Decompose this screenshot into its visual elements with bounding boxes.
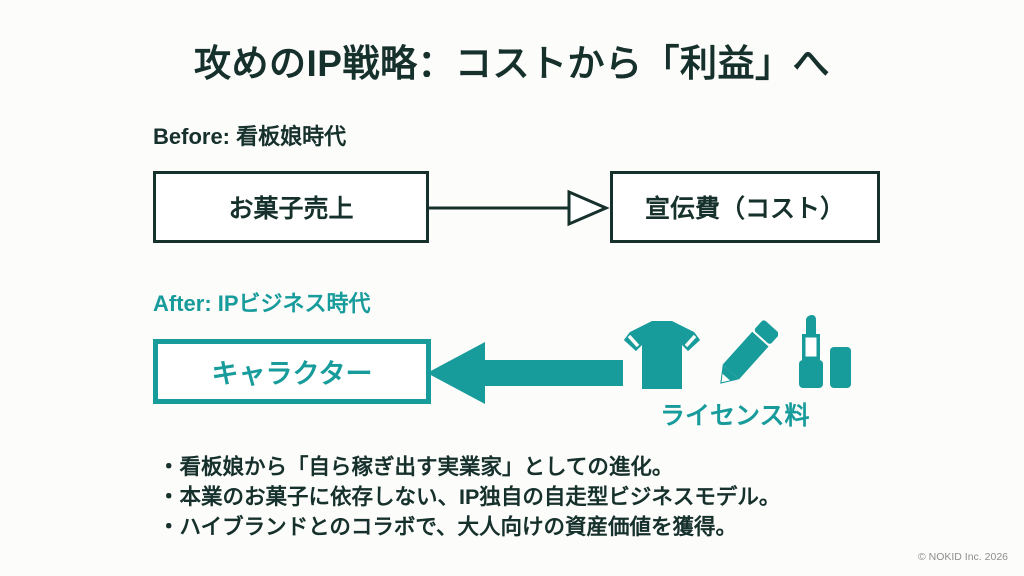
pencil-icon bbox=[716, 316, 778, 392]
section-label-after: After: IPビジネス時代 bbox=[153, 286, 371, 318]
bullet-list: ・看板娘から「自ら稼ぎ出す実業家」としての進化。 ・本業のお菓子に依存しない、I… bbox=[158, 452, 918, 542]
list-item: ・ハイブランドとのコラボで、大人向けの資産価値を獲得。 bbox=[158, 512, 918, 542]
flow-box-label: キャラクター bbox=[212, 352, 373, 391]
lipstick-icon bbox=[792, 314, 856, 392]
section-label-before: Before: 看板娘時代 bbox=[153, 119, 346, 151]
flow-box-label: お菓子売上 bbox=[228, 189, 353, 225]
flow-box-sendenhi-cost: 宣伝費（コスト） bbox=[610, 171, 880, 243]
copyright-notice: © NOKID Inc. 2026 bbox=[918, 551, 1008, 563]
hollow-arrow-right-icon bbox=[428, 188, 612, 228]
license-icon-group bbox=[622, 312, 868, 392]
flow-box-character: キャラクター bbox=[153, 339, 431, 404]
slide-canvas: 攻めのIP戦略：コストから「利益」へ Before: 看板娘時代 お菓子売上 宣… bbox=[0, 0, 1024, 576]
license-fee-label: ライセンス料 bbox=[660, 396, 810, 432]
flow-box-label: 宣伝費（コスト） bbox=[645, 189, 845, 225]
list-item: ・本業のお菓子に依存しない、IP独自の自走型ビジネスモデル。 bbox=[158, 482, 918, 512]
list-item: ・看板娘から「自ら稼ぎ出す実業家」としての進化。 bbox=[158, 452, 918, 482]
tshirt-icon bbox=[622, 318, 702, 392]
page-title: 攻めのIP戦略：コストから「利益」へ bbox=[0, 33, 1024, 87]
flow-box-okashi-uriage: お菓子売上 bbox=[153, 171, 429, 243]
solid-arrow-left-icon bbox=[427, 340, 623, 406]
